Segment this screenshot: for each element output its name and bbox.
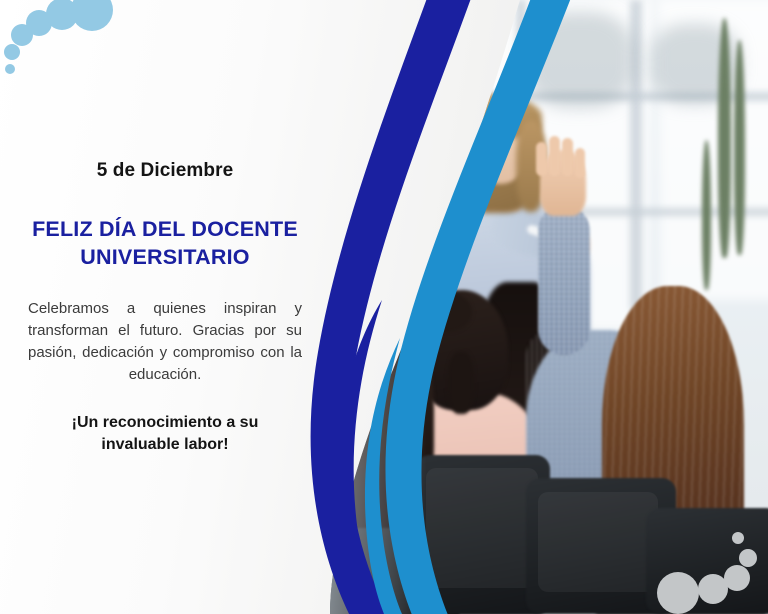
decorative-dot	[739, 549, 757, 567]
poster-canvas: 5 de Diciembre FELIZ DÍA DEL DOCENTE UNI…	[0, 0, 768, 614]
decorative-dot	[732, 532, 744, 544]
decorative-dot	[698, 574, 728, 604]
body-paragraph: Celebramos a quienes inspiran y transfor…	[16, 298, 314, 386]
decorative-dot	[657, 572, 699, 614]
closing-message: ¡Un reconocimiento a su invaluable labor…	[16, 412, 314, 455]
date-line: 5 de Diciembre	[16, 160, 314, 182]
headline: FELIZ DÍA DEL DOCENTE UNIVERSITARIO	[16, 216, 314, 271]
text-panel: 5 de Diciembre FELIZ DÍA DEL DOCENTE UNI…	[0, 0, 330, 614]
